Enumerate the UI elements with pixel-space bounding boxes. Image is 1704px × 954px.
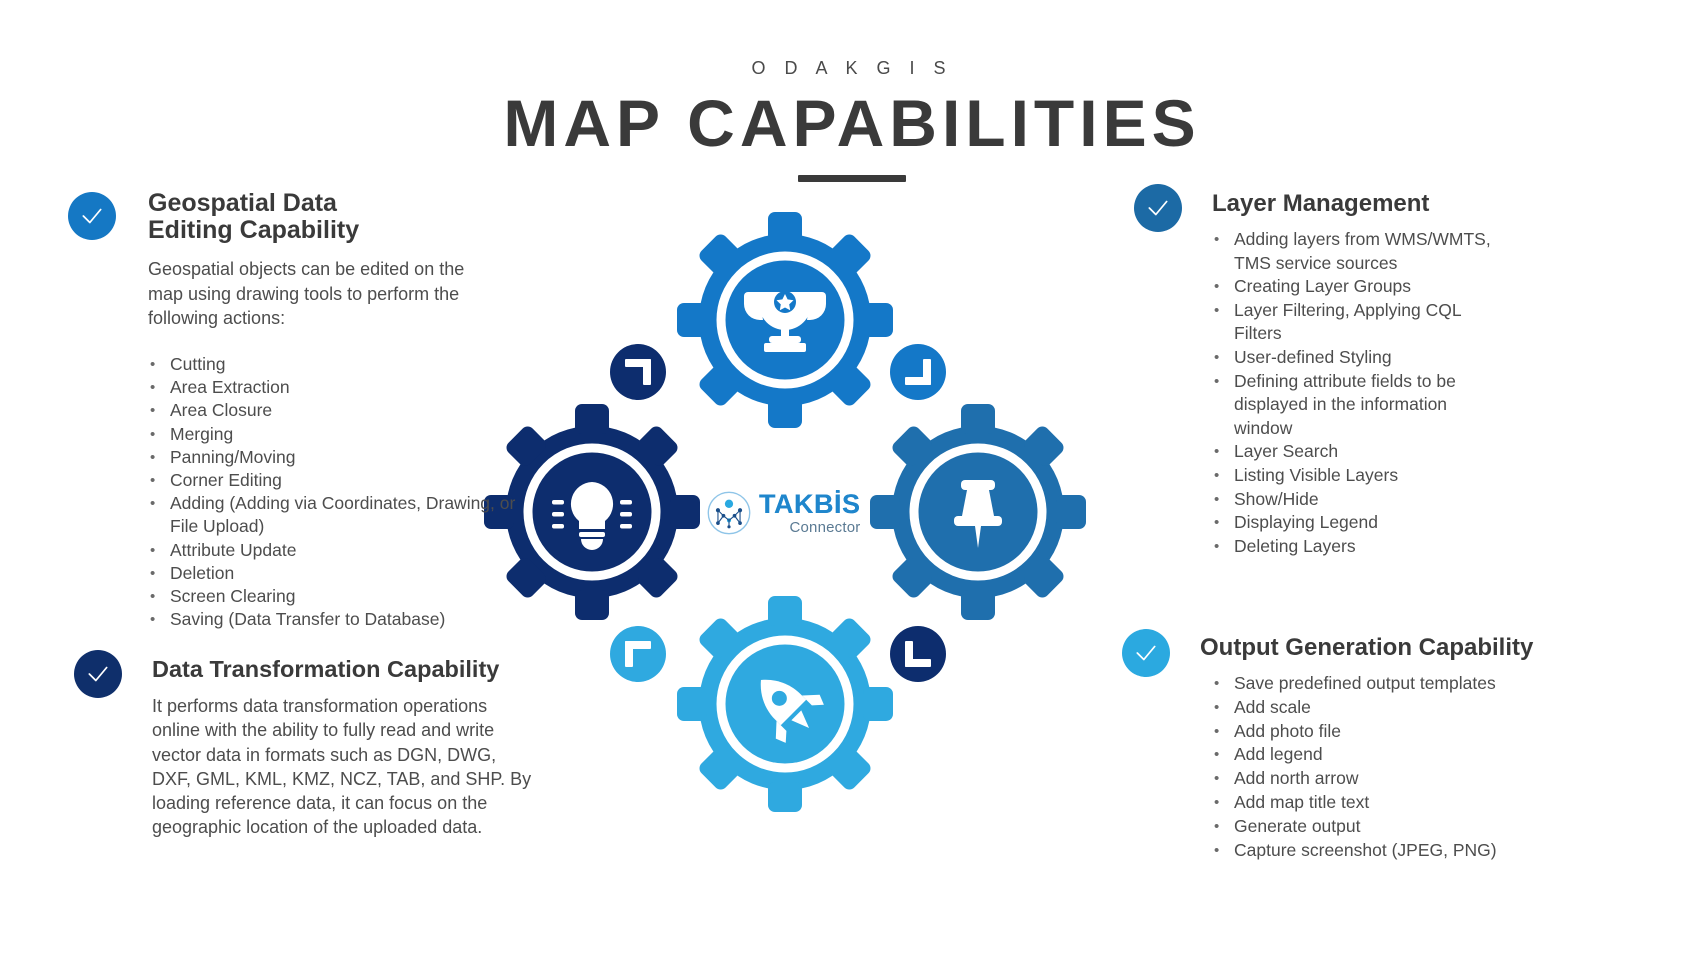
corner-badge-bottom-right [890,626,946,682]
list-item: Show/Hide [1212,488,1502,512]
list-item: User-defined Styling [1212,346,1502,370]
list-item: Screen Clearing [148,585,528,608]
list-item: Layer Search [1212,440,1502,464]
list-item: Corner Editing [148,469,528,492]
list-item: Defining attribute fields to be displaye… [1212,370,1502,441]
section-title-geospatial-line1: Geospatial Data [148,190,568,217]
list-item: Creating Layer Groups [1212,275,1502,299]
list-item: Layer Filtering, Applying CQL Filters [1212,299,1502,346]
section-list-output-generation: Save predefined output templatesAdd scal… [1212,672,1572,862]
list-item: Displaying Legend [1212,511,1502,535]
check-badge-layer-management [1134,184,1182,232]
list-item: Deleting Layers [1212,535,1502,559]
list-item: Saving (Data Transfer to Database) [148,608,528,631]
list-item: Panning/Moving [148,446,528,469]
network-circle-icon [706,490,752,536]
list-item: Listing Visible Layers [1212,464,1502,488]
check-icon [79,203,105,229]
list-item: Add photo file [1212,720,1572,744]
check-icon [1145,195,1171,221]
list-item: Attribute Update [148,539,528,562]
list-item: Save predefined output templates [1212,672,1572,696]
list-item: Area Closure [148,399,528,422]
list-item: Merging [148,423,528,446]
check-badge-data-transformation [74,650,122,698]
gear-top [677,212,893,428]
section-list-layer-management: Adding layers from WMS/WMTS, TMS service… [1212,228,1502,558]
brand-eyebrow: O D A K G I S [0,58,1704,79]
list-item: Deletion [148,562,528,585]
list-item: Add map title text [1212,791,1572,815]
list-item: Add legend [1212,743,1572,767]
takbis-connector-logo: TAKBİS Connector [706,484,876,542]
list-item: Adding (Adding via Coordinates, Drawing,… [148,492,528,538]
section-title-output-generation: Output Generation Capability [1200,634,1680,662]
section-list-geospatial: CuttingArea ExtractionArea ClosureMergin… [148,353,528,631]
section-paragraph-data-transformation: It performs data transformation operatio… [152,694,532,840]
corner-badge-top-left [610,344,666,400]
list-item: Area Extraction [148,376,528,399]
check-icon [1133,640,1159,666]
list-item: Capture screenshot (JPEG, PNG) [1212,839,1572,863]
section-paragraph-geospatial: Geospatial objects can be edited on the … [148,257,468,331]
check-badge-output-generation [1122,629,1170,677]
check-badge-geospatial [68,192,116,240]
slide-canvas: O D A K G I S MAP CAPABILITIES [0,0,1704,954]
list-item: Adding layers from WMS/WMTS, TMS service… [1212,228,1502,275]
gear-bottom [677,596,893,812]
corner-badge-top-right [890,344,946,400]
section-title-geospatial: Geospatial Data Editing Capability [148,190,568,244]
takbis-wordmark: TAKBİS [759,491,861,518]
title-underline-rule [798,175,906,182]
gear-right [870,404,1086,620]
section-title-data-transformation: Data Transformation Capability [152,656,632,683]
section-title-layer-management: Layer Management [1212,190,1672,218]
page-title: MAP CAPABILITIES [0,88,1704,158]
list-item: Add scale [1212,696,1572,720]
section-title-geospatial-line2: Editing Capability [148,217,568,244]
takbis-subtitle: Connector [759,520,861,535]
list-item: Add north arrow [1212,767,1572,791]
list-item: Cutting [148,353,528,376]
list-item: Generate output [1212,815,1572,839]
check-icon [85,661,111,687]
